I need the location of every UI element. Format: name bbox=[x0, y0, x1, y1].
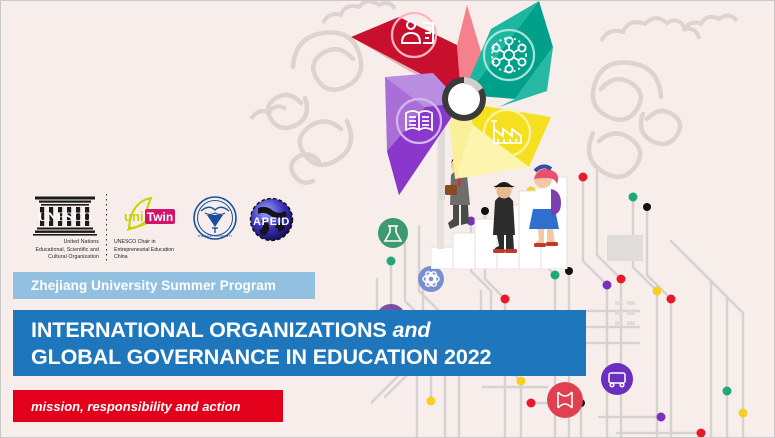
zju-seal-text: ZHEJIANG UNIVERSITY bbox=[198, 234, 233, 238]
program-banner-text: Zhejiang University Summer Program bbox=[13, 278, 276, 293]
unitwin-caption-line3: China bbox=[114, 254, 188, 262]
logo-divider bbox=[106, 194, 107, 262]
badge-flask bbox=[378, 218, 408, 248]
title-banner: INTERNATIONAL ORGANIZATIONS and GLOBAL G… bbox=[13, 310, 586, 376]
title-line-2: GLOBAL GOVERNANCE IN EDUCATION 2022 bbox=[31, 344, 586, 371]
unesco-temple-icon: UNESCO bbox=[33, 194, 97, 236]
unitwin-twin: Twin bbox=[147, 210, 173, 224]
mission-banner: mission, responsibility and action bbox=[13, 390, 283, 422]
unesco-caption-line2: Educational, Scientific and bbox=[31, 247, 99, 255]
badge-atom bbox=[418, 266, 444, 292]
unesco-caption: United Nations Educational, Scientific a… bbox=[31, 239, 99, 262]
apeid-logo: APEID bbox=[244, 192, 299, 247]
unitwin-caption-line1: UNESCO Chair in bbox=[114, 239, 188, 247]
logo-row: UNESCO United Nations Educational, Scien… bbox=[31, 194, 299, 262]
unitwin-logo: uni Twin UNESCO Chair in Entrepreneurial… bbox=[114, 194, 188, 262]
zhejiang-university-seal: ZHEJIANG UNIVERSITY bbox=[192, 195, 238, 241]
pinwheel-hub bbox=[442, 77, 486, 121]
unesco-caption-line3: Cultural Organization bbox=[31, 254, 99, 262]
unitwin-leaf-icon: uni Twin bbox=[121, 194, 181, 236]
pinwheel-graphic bbox=[339, 0, 589, 204]
unitwin-uni: uni bbox=[124, 209, 144, 224]
unitwin-caption-line2: Entrepreneurial Education bbox=[114, 247, 188, 255]
title-line-1-main: INTERNATIONAL ORGANIZATIONS bbox=[31, 318, 387, 342]
unitwin-caption: UNESCO Chair in Entrepreneurial Educatio… bbox=[114, 239, 188, 262]
badge-bus bbox=[601, 363, 633, 395]
unesco-caption-line1: United Nations bbox=[31, 239, 99, 247]
title-line-1: INTERNATIONAL ORGANIZATIONS and bbox=[31, 317, 586, 344]
presentation-slide: UNESCO United Nations Educational, Scien… bbox=[0, 0, 775, 438]
unesco-wordmark: UNESCO bbox=[38, 209, 92, 224]
apeid-wordmark: APEID bbox=[253, 216, 290, 228]
badge-dna bbox=[547, 382, 583, 418]
program-banner: Zhejiang University Summer Program bbox=[13, 272, 315, 299]
title-line-1-italic: and bbox=[393, 318, 431, 342]
mission-banner-text: mission, responsibility and action bbox=[13, 399, 241, 414]
unesco-logo: UNESCO United Nations Educational, Scien… bbox=[31, 194, 99, 262]
